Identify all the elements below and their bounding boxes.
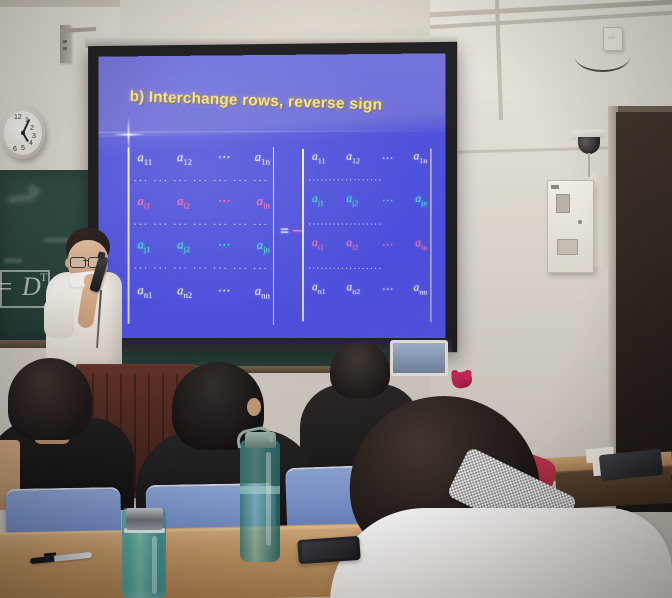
matrix-ellipsis-row: ··· ··· ··· ··· ··· ··· ··· [133, 219, 268, 231]
clock-numeral-3: 3 [32, 133, 36, 140]
water-bottle[interactable] [240, 440, 280, 562]
wall-monitor [390, 340, 448, 376]
matrix-cell: a12 [346, 151, 360, 165]
matrix-cell: ain [415, 237, 427, 251]
matrix-cell: aj2 [177, 237, 190, 255]
matrix-row-i: ai1 ai2 ⋯ ain [306, 237, 435, 252]
equals-sign: = [280, 223, 289, 241]
student-back-right-head [330, 342, 390, 398]
glasses-bridge [83, 260, 89, 261]
glasses-icon [70, 257, 86, 268]
smartphone-screen[interactable] [301, 539, 356, 561]
matrix-row-n: an1 an2 ⋯ ann [132, 282, 278, 300]
lecturer-sleeve [44, 298, 74, 338]
water-bottle-front-cap[interactable] [126, 508, 163, 530]
clock-numeral-12: 12 [14, 114, 22, 121]
right-determinant-matrix: a11 a12 ⋯ a1n ·················· aj1 aj2… [302, 148, 431, 322]
matrix-cell: ⋯ [217, 149, 230, 167]
matrix-ellipsis-row: ··· ··· ··· ··· ··· ··· ··· [133, 175, 268, 187]
matrix-cell: ai1 [137, 193, 150, 210]
camera-wire [588, 153, 590, 177]
matrix-row: a11 a12 ⋯ a1n [132, 149, 278, 167]
lecturer [40, 228, 136, 368]
clock-numeral-4: 4 [29, 140, 33, 147]
matrix-cell: an2 [346, 281, 360, 295]
slide-title: b) Interchange rows, reverse sign [129, 88, 419, 116]
matrix-cell: ai2 [177, 193, 190, 211]
matrix-ellipsis-row: ·················· [308, 219, 427, 229]
matrix-cell: a1n [414, 151, 428, 165]
sparkle-icon [112, 118, 145, 152]
matrix-cell: an2 [177, 282, 192, 300]
matrix-ellipsis-row: ·················· [308, 263, 427, 274]
matrix-cell: ann [414, 282, 428, 297]
water-bottle-highlight [266, 452, 271, 546]
matrix-cell: aj2 [346, 193, 358, 207]
matrix-cell: ⋯ [381, 151, 393, 165]
matrix-cell: ⋯ [381, 237, 393, 251]
matrix-cell: ⋯ [381, 282, 393, 296]
matrix-cell: an1 [312, 281, 326, 295]
matrix-cell: ai1 [312, 237, 324, 251]
matrix-row-j: aj1 aj2 ⋯ ajn [306, 193, 435, 207]
matrix-bar-left [302, 149, 304, 321]
matrix-row: a11 a12 ⋯ a1n [306, 150, 435, 165]
matrix-cell: a12 [177, 149, 192, 167]
screen-bracket-bolt-upper [63, 40, 67, 43]
matrix-row-i: ai1 ai2 ⋯ ain [132, 193, 278, 211]
matrix-cell: aj1 [137, 237, 150, 254]
clock-numeral-2: 2 [30, 125, 34, 132]
wall-switch-indicator [608, 36, 615, 39]
matrix-row-n: an1 an2 ⋯ ann [306, 281, 435, 296]
matrix-cell: ain [257, 193, 270, 211]
electrical-panel-window-lower [557, 239, 578, 255]
electrical-panel[interactable] [547, 180, 594, 273]
electrical-panel-window-upper [556, 194, 570, 213]
matrix-ellipsis-row: ·················· [308, 175, 427, 185]
matrix-cell: a11 [137, 149, 152, 166]
matrix-cell: ⋯ [217, 283, 230, 301]
electrical-panel-knob[interactable] [578, 220, 582, 224]
matrix-cell: ajn [257, 237, 270, 255]
chalk-smudge [4, 258, 22, 263]
matrix-cell: ajn [415, 193, 427, 207]
screen-bracket-bolt-lower [63, 47, 67, 50]
left-ceiling-trim [0, 0, 120, 7]
matrix-cell: a11 [312, 151, 325, 165]
matrix-cell: a1n [255, 149, 270, 167]
lecture-hall-photo: 12 1 2 3 4 5 6 = D T Positive b) Interch… [0, 0, 672, 598]
student-front-white-shirt [330, 508, 672, 598]
projected-slide: b) Interchange rows, reverse sign a11 a1… [98, 53, 445, 344]
water-bottle-band [240, 486, 280, 494]
matrix-cell: ⋯ [217, 193, 230, 211]
matrix-row-j: aj1 aj2 ⋯ ajn [132, 237, 278, 255]
matrix-cell: ⋯ [381, 193, 393, 207]
clock-numeral-6: 6 [13, 146, 17, 153]
water-bottle-front-highlight [152, 536, 157, 594]
matrix-ellipsis-row: ··· ··· ··· ··· ··· ··· ··· [133, 262, 268, 275]
left-determinant-matrix: a11 a12 ⋯ a1n ··· ··· ··· ··· ··· ··· ··… [128, 147, 274, 325]
blackboard-equation: = D [0, 272, 42, 302]
matrix-cell: ann [255, 283, 270, 301]
sparkle-vertical [128, 118, 130, 152]
student-left-head [8, 358, 92, 440]
student-center-ear [247, 398, 261, 416]
electrical-panel-label [551, 185, 559, 189]
wall-clock: 12 1 2 3 4 5 6 [1, 107, 45, 159]
clock-center-pin [21, 131, 25, 135]
matrix-cell: an1 [137, 282, 152, 300]
matrix-cell: aj1 [312, 193, 324, 207]
clock-numeral-5: 5 [21, 145, 25, 152]
matrix-cell: ai2 [346, 237, 358, 251]
matrix-cell: ⋯ [217, 237, 230, 255]
